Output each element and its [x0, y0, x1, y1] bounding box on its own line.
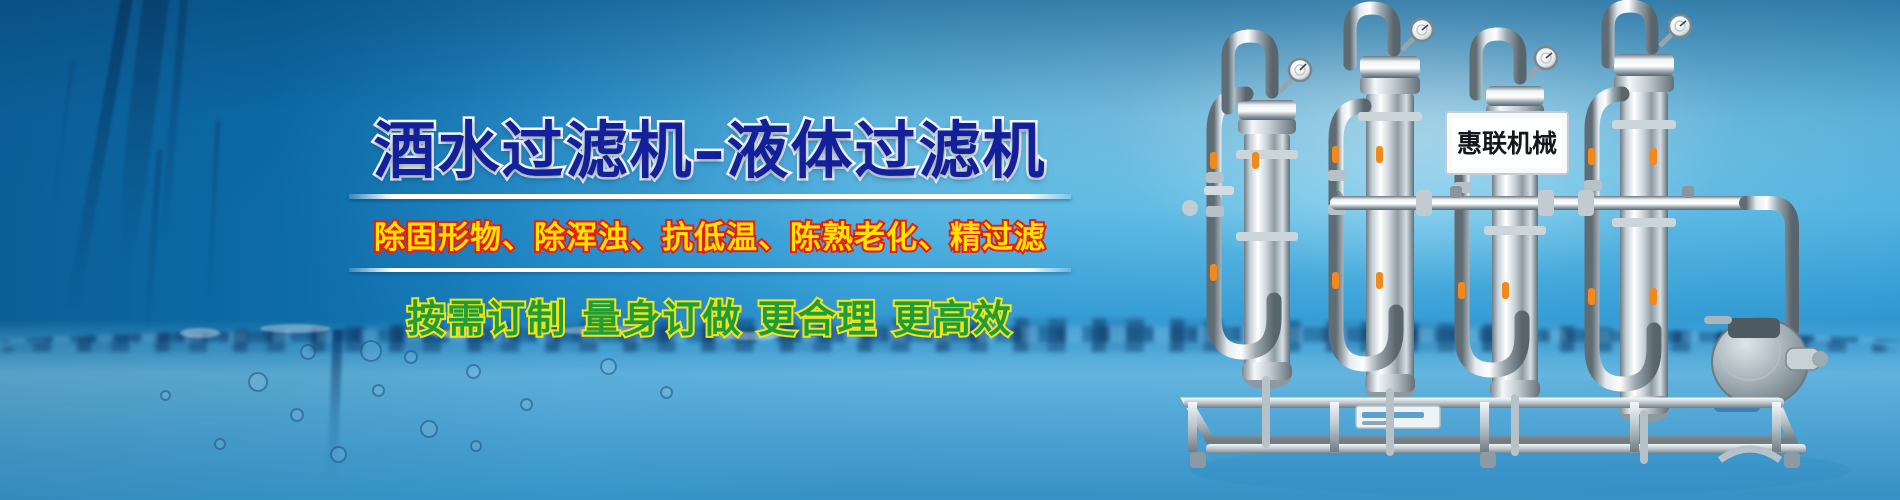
bubble-icon [290, 408, 304, 422]
valve-handle-icon [1252, 152, 1259, 169]
valve-handle-icon [1376, 146, 1383, 163]
valve-handle-icon [1650, 288, 1657, 305]
bubble-icon [466, 364, 481, 379]
bubble-icon [372, 384, 385, 397]
bubble-icon [360, 340, 382, 362]
service-tagline: 按需订制 量身订做 更合理 更高效 [330, 288, 1090, 343]
divider-top [349, 194, 1071, 199]
bubble-icon [330, 446, 347, 463]
machine-photo: 惠联机械 [1180, 0, 1900, 500]
valve-handle-icon [1332, 272, 1339, 289]
bubble-icon [248, 372, 268, 392]
valve-handle-icon [1502, 282, 1509, 299]
filter-vessel-3 [1454, 34, 1557, 407]
bubble-icon [420, 420, 438, 438]
valve-handle-icon [1458, 282, 1465, 299]
bubble-icon [520, 398, 533, 411]
bubble-icon [404, 350, 418, 364]
bubble-icon [470, 440, 482, 452]
feature-subtitle: 除固形物、除浑浊、抗低温、陈熟老化、精过滤 [330, 212, 1090, 257]
page-title: 酒水过滤机–液体过滤机 [330, 118, 1090, 184]
valve-handle-icon [1588, 288, 1595, 305]
valve-handle-icon [1210, 264, 1217, 281]
brand-sign-label: 惠联机械 [1457, 129, 1557, 158]
bubble-icon [160, 390, 171, 401]
brand-sign: 惠联机械 [1446, 112, 1568, 174]
filter-vessel-4 [1584, 6, 1691, 423]
foam-icon [260, 324, 330, 333]
valve-handle-icon [1376, 272, 1383, 289]
bubble-icon [660, 386, 673, 399]
valve-handle-icon [1650, 148, 1657, 165]
bubble-icon [300, 344, 316, 360]
valve-handle-icon [1588, 148, 1595, 165]
valve-handle-icon [1332, 146, 1339, 163]
outlet-pipe [1746, 203, 1792, 330]
filter-vessel-1 [1182, 36, 1311, 389]
foam-icon [180, 328, 220, 338]
product-banner: 酒水过滤机–液体过滤机 除固形物、除浑浊、抗低温、陈熟老化、精过滤 按需订制 量… [0, 0, 1900, 500]
headline-block: 酒水过滤机–液体过滤机 除固形物、除浑浊、抗低温、陈熟老化、精过滤 按需订制 量… [330, 118, 1090, 343]
valve-handle-icon [1210, 152, 1217, 169]
divider-bottom [349, 268, 1071, 272]
bubble-icon [600, 358, 617, 375]
bubble-icon [214, 438, 226, 450]
